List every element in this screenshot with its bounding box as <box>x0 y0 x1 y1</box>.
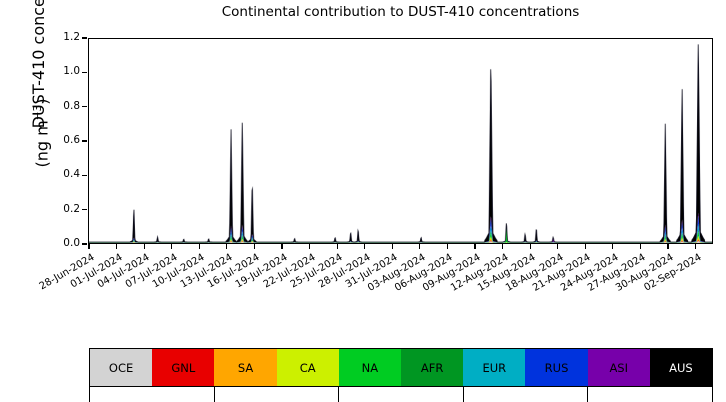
legend-secondrow-cell[interactable] <box>90 387 215 402</box>
legend-item-aus[interactable]: AUS <box>650 349 712 387</box>
x-axis-tick-mark <box>585 244 586 249</box>
y-axis-tick-label: 0.0 <box>46 238 80 249</box>
x-axis-tick-mark <box>254 244 255 249</box>
legend-item-oce[interactable]: OCE <box>90 349 152 387</box>
x-axis-tick-mark <box>474 244 475 249</box>
x-axis-tick-mark <box>447 244 448 249</box>
x-axis-tick-mark <box>199 244 200 249</box>
x-axis-tick-mark <box>640 244 641 249</box>
figure-canvas: Continental contribution to DUST-410 con… <box>0 0 726 402</box>
x-axis-tick-mark <box>281 244 282 249</box>
x-axis-tick-mark <box>364 244 365 249</box>
y-axis-tick-label: 1.2 <box>46 32 80 43</box>
x-axis-tick-mark <box>557 244 558 249</box>
y-axis-tick-mark <box>82 106 87 107</box>
x-axis-tick-mark <box>612 244 613 249</box>
legend-secondrow-cell[interactable] <box>464 387 589 402</box>
legend-item-sa[interactable]: SA <box>214 349 276 387</box>
timeseries-plot <box>89 39 712 243</box>
x-axis-tick-mark <box>419 244 420 249</box>
x-axis-tick-mark <box>144 244 145 249</box>
chart-title: Continental contribution to DUST-410 con… <box>88 4 713 20</box>
x-axis-tick-mark <box>695 244 696 249</box>
x-axis-tick-mark <box>88 244 89 249</box>
legend-secondrow-cell[interactable] <box>588 387 712 402</box>
legend-item-ca[interactable]: CA <box>277 349 339 387</box>
legend-item-asi[interactable]: ASI <box>588 349 650 387</box>
legend-item-na[interactable]: NA <box>339 349 401 387</box>
legend-item-gnl[interactable]: GNL <box>152 349 214 387</box>
x-axis-tick-mark <box>392 244 393 249</box>
legend-item-eur[interactable]: EUR <box>463 349 525 387</box>
legend-item-afr[interactable]: AFR <box>401 349 463 387</box>
x-axis-tick-mark <box>337 244 338 249</box>
y-axis-tick-mark <box>82 209 87 210</box>
y-axis-tick-label: 1.0 <box>46 66 80 77</box>
y-axis-unit-exponent: −3 <box>32 105 44 120</box>
y-axis-tick-label: 0.8 <box>46 101 80 112</box>
legend-second-row <box>89 386 713 402</box>
y-axis-tick-label: 0.4 <box>46 169 80 180</box>
x-axis-tick-mark <box>667 244 668 249</box>
y-axis-tick-mark <box>82 243 87 244</box>
x-axis-tick-mark <box>171 244 172 249</box>
legend-secondrow-cell[interactable] <box>215 387 340 402</box>
x-axis-tick-mark <box>309 244 310 249</box>
y-axis-tick-label: 0.6 <box>46 135 80 146</box>
y-axis-tick-label: 0.2 <box>46 204 80 215</box>
x-axis-tick-mark <box>116 244 117 249</box>
y-axis-tick-mark <box>82 37 87 38</box>
x-axis-tick-mark <box>530 244 531 249</box>
legend-secondrow-cell[interactable] <box>339 387 464 402</box>
legend-item-rus[interactable]: RUS <box>525 349 587 387</box>
y-axis-tick-mark <box>82 72 87 73</box>
y-axis-tick-mark <box>82 140 87 141</box>
y-axis-tick-mark <box>82 175 87 176</box>
x-axis-tick-mark <box>502 244 503 249</box>
x-axis-tick-mark <box>226 244 227 249</box>
plot-area <box>88 38 713 244</box>
